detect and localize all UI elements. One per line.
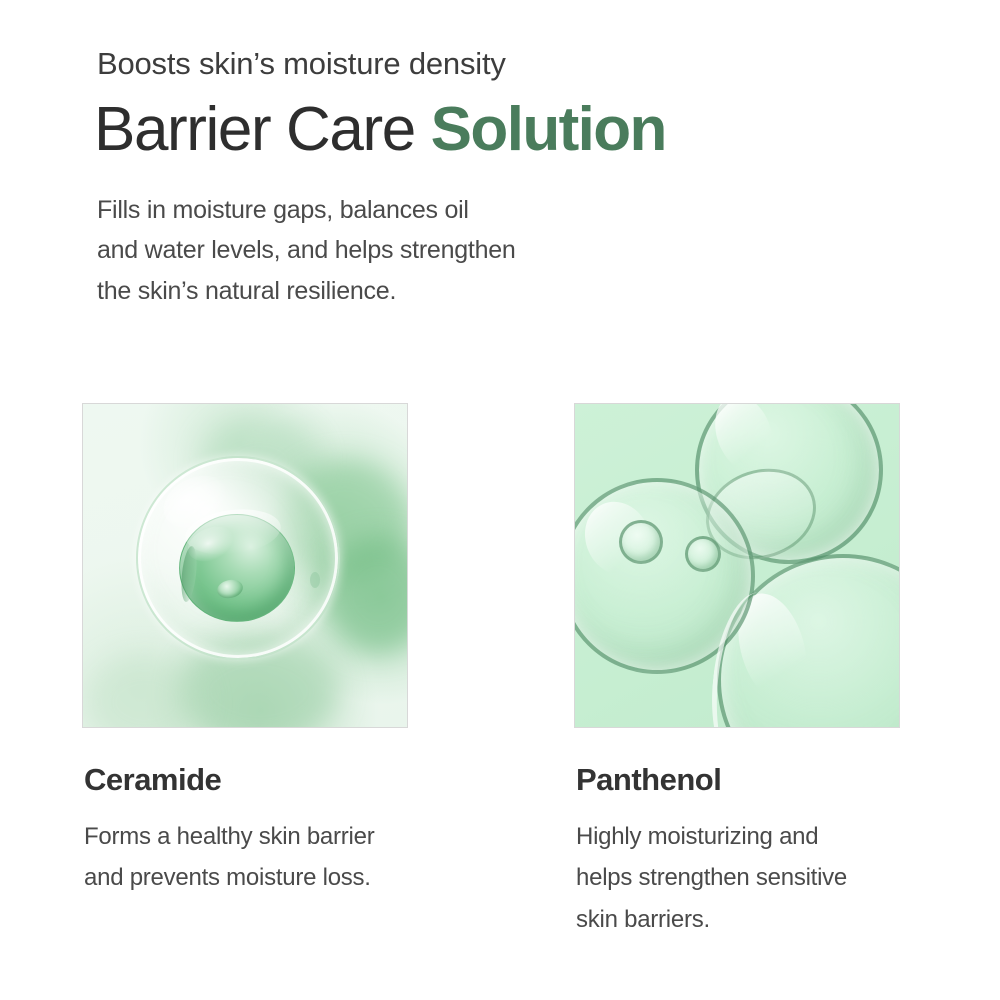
bubble-small-one <box>619 520 663 564</box>
ingredient-description-line: Forms a healthy skin barrier <box>84 816 408 857</box>
header-text-block: Boosts skin’s moisture density Barrier C… <box>97 46 917 311</box>
ingredient-description: Highly moisturizing and helps strengthen… <box>576 816 900 940</box>
page-title-accent: Solution <box>431 95 666 164</box>
ingredient-title: Panthenol <box>576 763 900 797</box>
panthenol-bubbles-photo <box>574 403 900 728</box>
ingredient-card-panthenol: Panthenol Highly moisturizing and helps … <box>574 403 900 940</box>
page-title: Barrier Care Solution <box>94 96 917 164</box>
page-description-line: Fills in moisture gaps, balances oil <box>97 190 917 231</box>
ingredient-title: Ceramide <box>84 763 408 797</box>
page-title-main: Barrier Care <box>94 95 431 164</box>
ceramide-bubble-photo <box>82 403 408 728</box>
eyebrow-text: Boosts skin’s moisture density <box>97 46 917 82</box>
ingredient-description-line: skin barriers. <box>576 899 900 940</box>
ingredient-description-line: Highly moisturizing and <box>576 816 900 857</box>
bubble-small-two <box>685 536 721 572</box>
page-description-line: and water levels, and helps strengthen <box>97 230 917 271</box>
page-description: Fills in moisture gaps, balances oil and… <box>97 190 917 312</box>
ingredient-description-line: and prevents moisture loss. <box>84 857 408 898</box>
bubble-speck <box>310 572 320 588</box>
ingredient-description-line: helps strengthen sensitive <box>576 857 900 898</box>
product-infographic-page: Boosts skin’s moisture density Barrier C… <box>0 0 1000 1000</box>
page-description-line: the skin’s natural resilience. <box>97 271 917 312</box>
ingredient-description: Forms a healthy skin barrier and prevent… <box>84 816 408 899</box>
ingredient-card-ceramide: Ceramide Forms a healthy skin barrier an… <box>82 403 408 899</box>
